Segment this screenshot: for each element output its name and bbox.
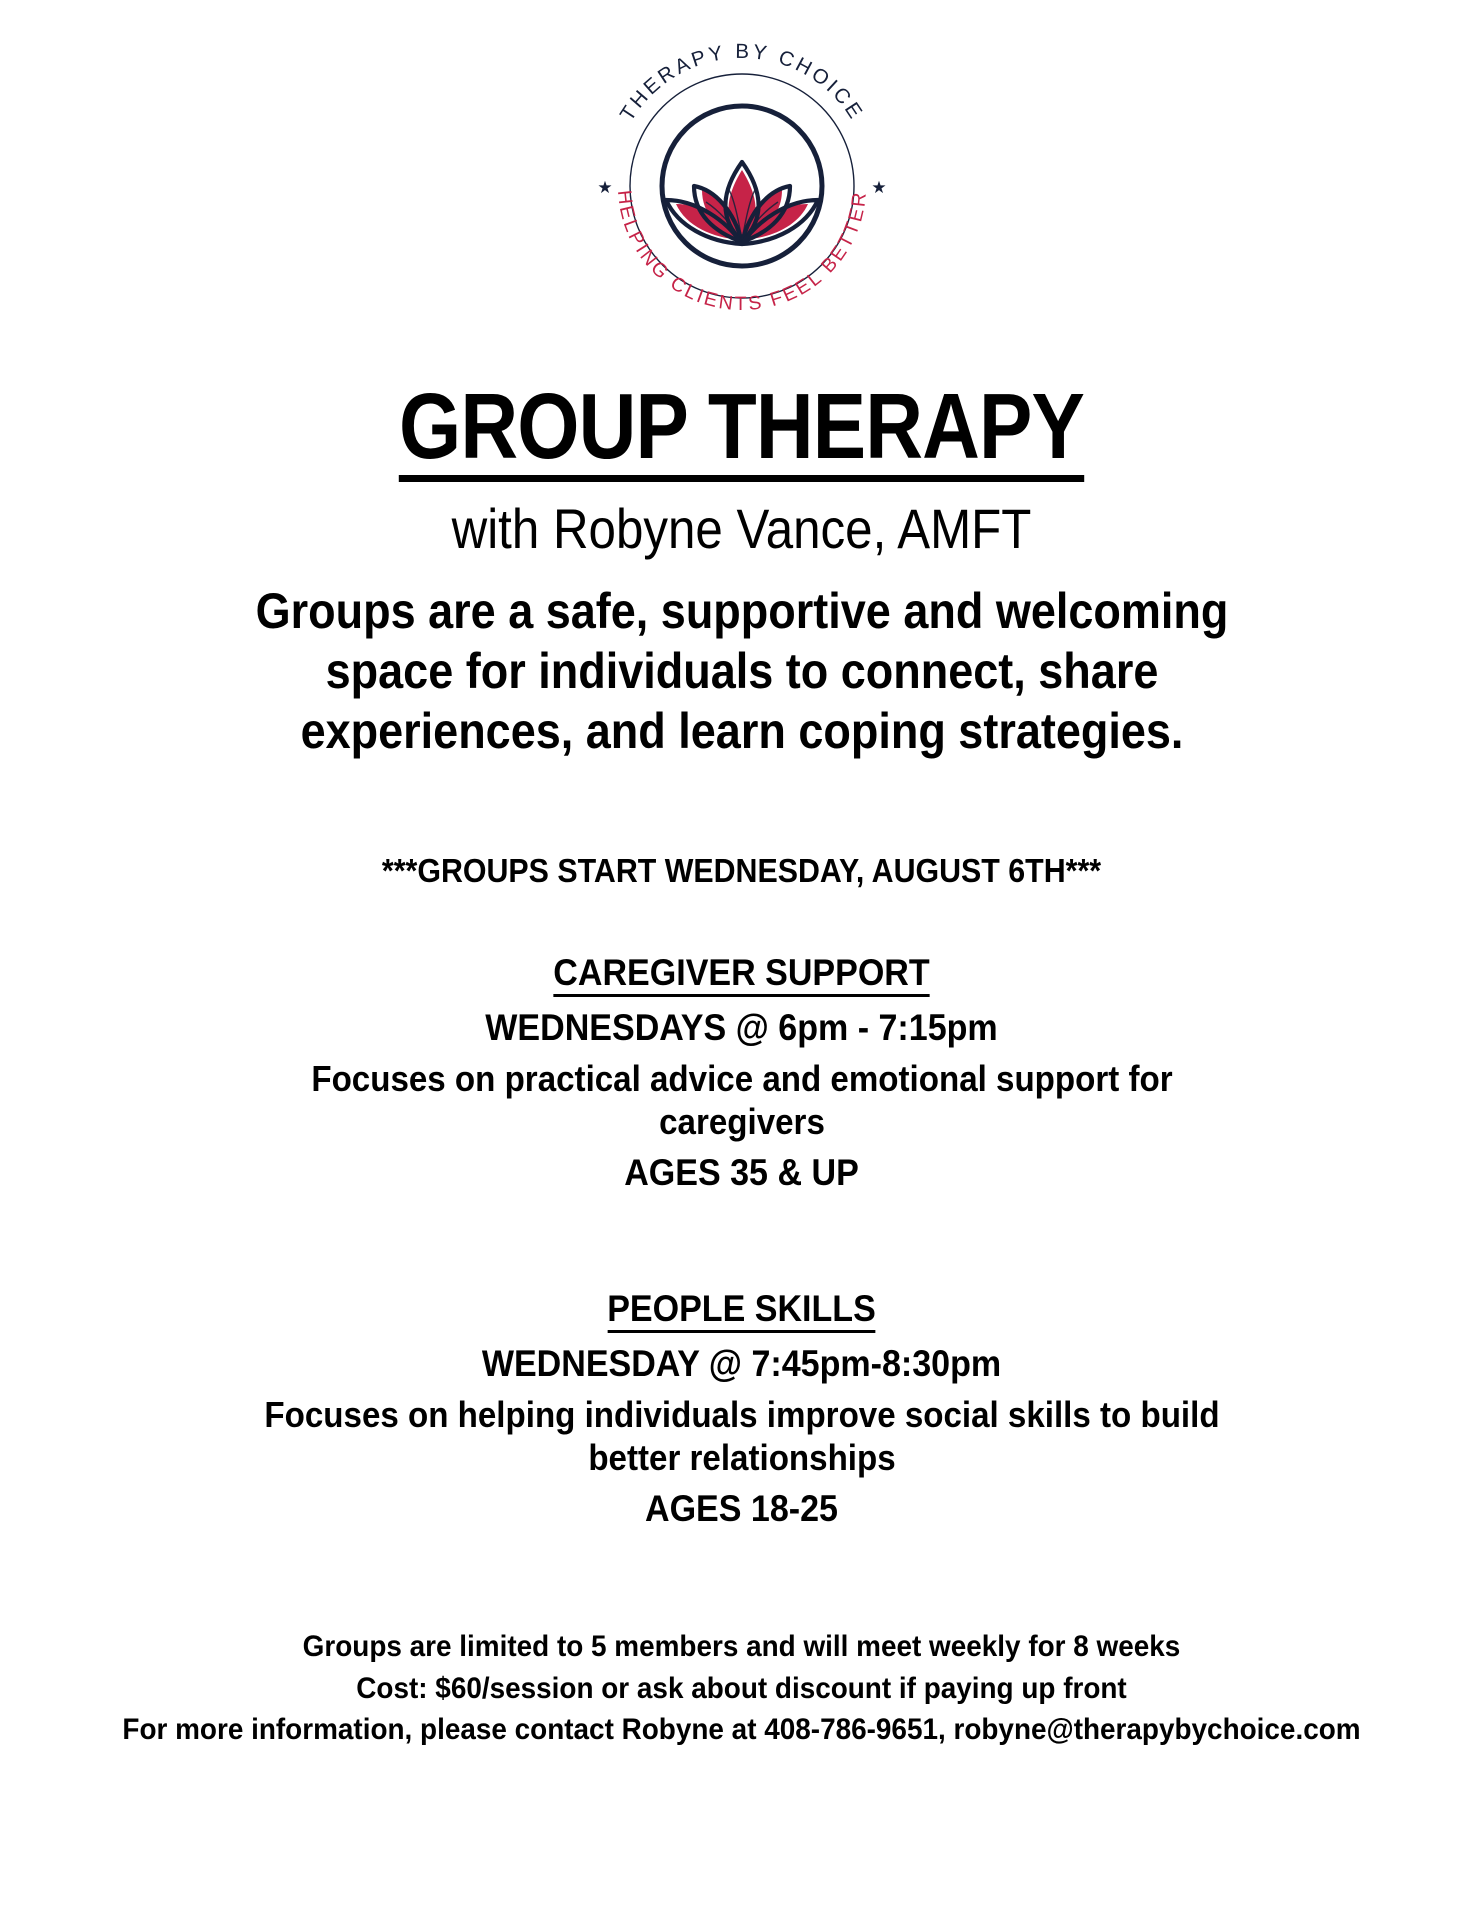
group-name-heading: PEOPLE SKILLS [59,1286,1423,1332]
group-age-range: AGES 35 & UP [59,1148,1423,1198]
group-block-caregiver-support: CAREGIVER SUPPORT WEDNESDAYS @ 6pm - 7:1… [0,950,1483,1198]
group-description: Focuses on helping individuals improve s… [245,1393,1239,1481]
group-schedule: WEDNESDAYS @ 6pm - 7:15pm [59,1003,1423,1053]
group-schedule: WEDNESDAY @ 7:45pm-8:30pm [59,1339,1423,1389]
logo-arc-top-text: THERAPY BY CHOICE [615,40,868,125]
logo-container: THERAPY BY CHOICE HELPING CLIENTS FEEL B… [0,0,1483,346]
logo-arc-top-textpath: THERAPY BY CHOICE [615,40,868,125]
group-name-text: PEOPLE SKILLS [607,1288,876,1333]
flyer-page: THERAPY BY CHOICE HELPING CLIENTS FEEL B… [0,0,1483,1920]
footer-capacity-line: Groups are limited to 5 members and will… [52,1626,1431,1667]
therapy-by-choice-logo: THERAPY BY CHOICE HELPING CLIENTS FEEL B… [582,26,902,346]
group-description: Focuses on practical advice and emotiona… [245,1057,1239,1145]
page-title: GROUP THERAPY [104,380,1379,482]
star-icon-left: ★ [597,178,612,197]
group-name-text: CAREGIVER SUPPORT [553,952,929,997]
footer-cost-line: Cost: $60/session or ask about discount … [52,1668,1431,1709]
page-subtitle: with Robyne Vance, AMFT [89,500,1394,559]
start-date-banner: ***GROUPS START WEDNESDAY, AUGUST 6TH*** [59,851,1423,891]
intro-paragraph: Groups are a safe, supportive and welcom… [202,581,1282,761]
group-block-people-skills: PEOPLE SKILLS WEDNESDAY @ 7:45pm-8:30pm … [0,1286,1483,1534]
lotus-icon [666,162,818,244]
group-name-heading: CAREGIVER SUPPORT [59,950,1423,996]
star-icon-right: ★ [871,178,886,197]
footer-details: Groups are limited to 5 members and will… [0,1626,1483,1750]
page-title-text: GROUP THERAPY [399,380,1084,482]
footer-contact-line: For more information, please contact Rob… [52,1709,1431,1750]
group-age-range: AGES 18-25 [59,1484,1423,1534]
